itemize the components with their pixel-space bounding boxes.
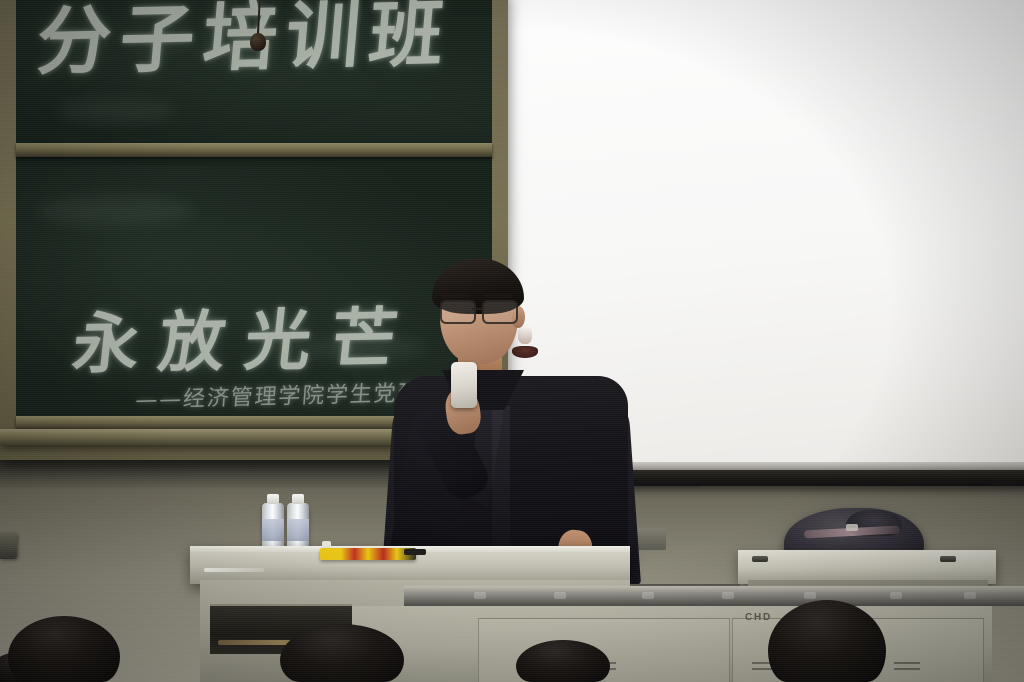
hanging-weight	[250, 33, 266, 51]
chalk-slogan: 永放光芒	[69, 285, 423, 387]
marker-box	[320, 548, 416, 560]
lectern-metal-rail	[404, 586, 1024, 606]
glasses-bridge	[472, 308, 484, 310]
chalk-heading: 分子培训班	[33, 0, 457, 89]
lectern-cabinet	[352, 606, 992, 682]
glasses-lens-right	[482, 300, 518, 324]
side-desk-clip-right	[940, 556, 956, 562]
presenter-brow-left	[442, 294, 470, 298]
blackboard-panel-top: 分子培训班	[16, 0, 492, 143]
presentation-clicker	[451, 362, 477, 408]
glasses-icon	[436, 300, 522, 322]
backpack-buckle	[846, 524, 858, 531]
side-desk-clip-left	[752, 556, 768, 562]
wall-fixture-left	[0, 533, 17, 559]
lecture-hall-photo: “希望大庆油田全体干部职工不忘 神、铁人精神，不断改革创新，推动 、建设百年油田…	[0, 0, 1024, 682]
lectern-small-items	[204, 568, 264, 572]
side-desk-top	[738, 550, 996, 584]
presenter-mouth	[512, 346, 538, 358]
glasses-lens-left	[440, 300, 476, 324]
pointer-stick	[404, 549, 426, 555]
presenter-nose	[518, 326, 532, 344]
presenter-brow-right	[484, 294, 512, 298]
blackboard-mid-rail	[16, 143, 492, 157]
cabinet-brand-label: CHD	[745, 612, 772, 623]
